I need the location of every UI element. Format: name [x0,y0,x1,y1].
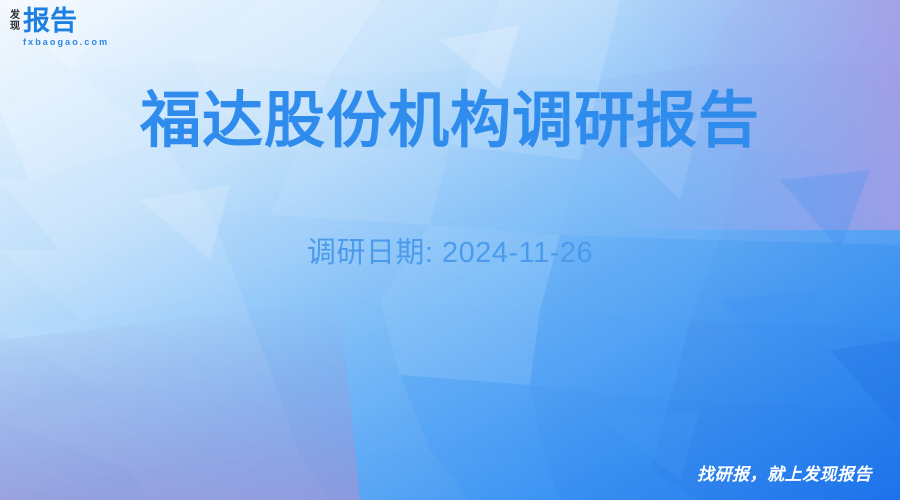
title-block: 福达股份机构调研报告 [0,84,900,156]
brand-logo[interactable]: 发 现 报告 fxbaogao.com [10,8,109,47]
subtitle-block: 调研日期: 2024-11-26 [0,233,900,273]
logo-prefix-top: 发 [10,10,20,21]
logo-prefix-stack: 发 现 [10,8,20,32]
logo-prefix-bottom: 现 [10,21,20,32]
page-title: 福达股份机构调研报告 [0,84,900,156]
logo-domain-text: fxbaogao.com [23,37,109,47]
survey-date-text: 调研日期: 2024-11-26 [0,233,900,273]
report-cover-page: 发 现 报告 fxbaogao.com 福达股份机构调研报告 调研日期: 202… [0,0,900,500]
footer-slogan: 找研报，就上发现报告 [697,464,872,486]
logo-text-group: 报告 fxbaogao.com [23,8,109,47]
logo-wordmark: 报告 [23,8,109,35]
